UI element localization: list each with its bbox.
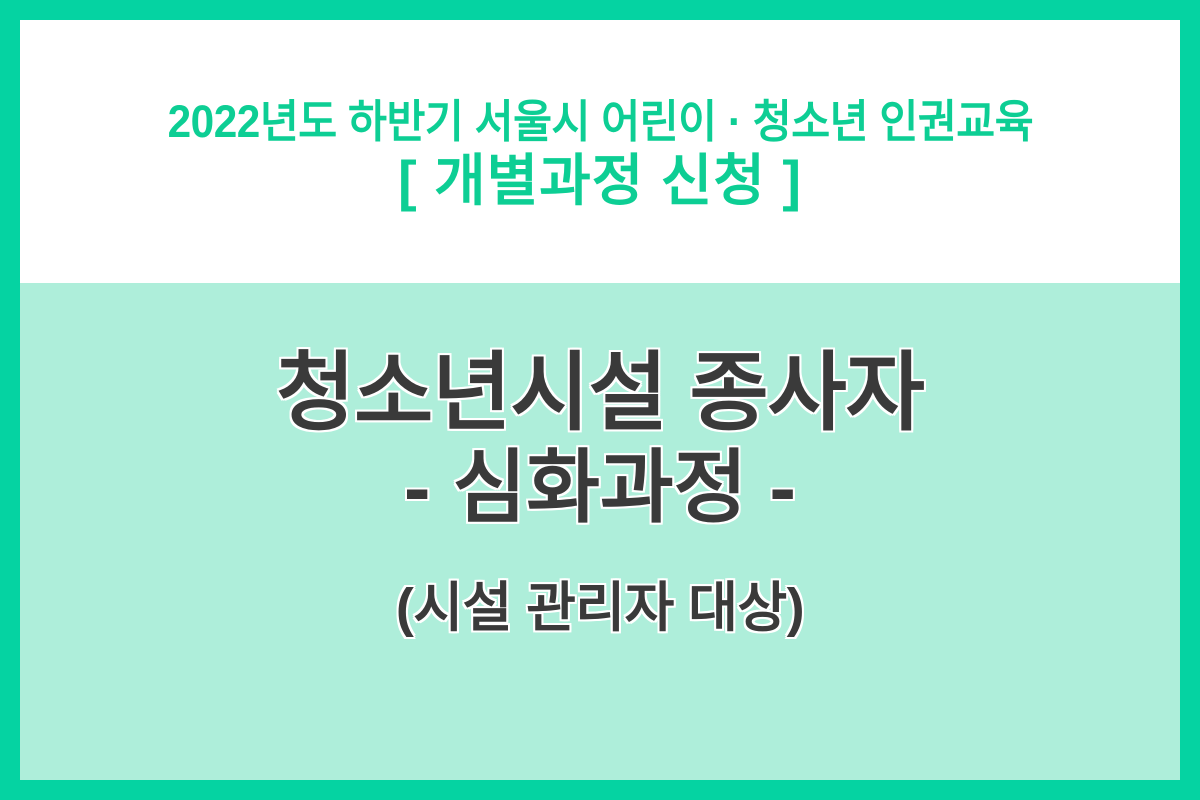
course-audience-title: 청소년시설 종사자 bbox=[276, 345, 924, 441]
program-title: 2022년도 하반기 서울시 어린이 · 청소년 인권교육 bbox=[167, 98, 1033, 145]
poster-banner: 2022년도 하반기 서울시 어린이 · 청소년 인권교육 [ 개별과정 신청 … bbox=[0, 0, 1200, 800]
body-band: 청소년시설 종사자 - 심화과정 - (시설 관리자 대상) bbox=[20, 283, 1180, 780]
application-label: [ 개별과정 신청 ] bbox=[398, 151, 802, 211]
header-band: 2022년도 하반기 서울시 어린이 · 청소년 인권교육 [ 개별과정 신청 … bbox=[20, 20, 1180, 283]
poster-inner-frame: 2022년도 하반기 서울시 어린이 · 청소년 인권교육 [ 개별과정 신청 … bbox=[20, 20, 1180, 780]
course-level-title: - 심화과정 - bbox=[404, 443, 796, 533]
course-target-note: (시설 관리자 대상) bbox=[396, 577, 804, 639]
